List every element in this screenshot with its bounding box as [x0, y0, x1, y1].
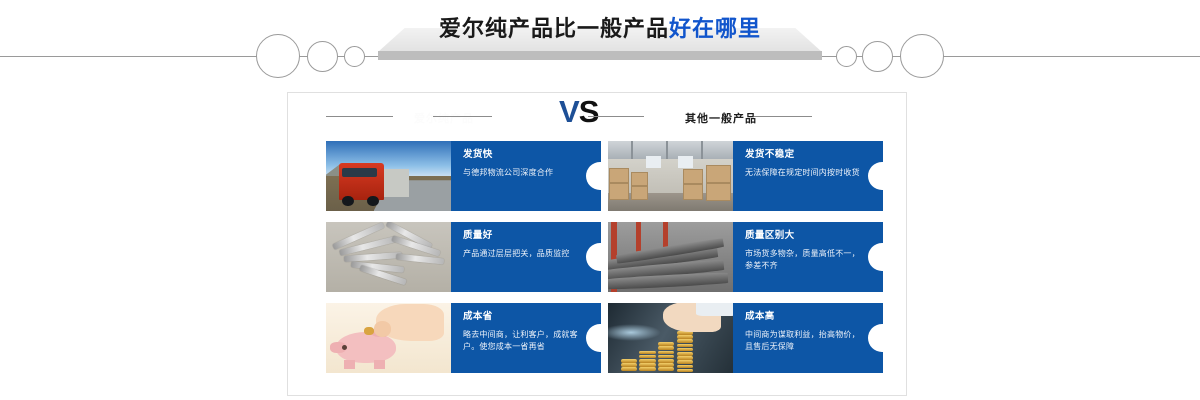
feature-card-title: 质量好	[463, 230, 579, 242]
our-products-column: 发货快 与德邦物流公司深度合作	[326, 141, 601, 384]
feature-card-pane: 质量好 产品通过层层把关，品质监控	[451, 222, 601, 292]
page-title-primary: 爱尔纯产品比一般产品	[439, 16, 669, 41]
feature-card[interactable]: 质量好 产品通过层层把关，品质监控	[326, 222, 601, 292]
right-column-label: 其他一般产品	[685, 110, 757, 126]
notch-circle-icon	[868, 162, 883, 190]
feature-card-title: 成本省	[463, 311, 579, 323]
feature-card-desc: 略去中间商，让利客户，成就客户。使您成本一省再省	[463, 329, 579, 353]
decorative-circle-icon	[862, 41, 893, 72]
drawback-card-pane: 发货不稳定 无法保障在规定时间内按时收货	[733, 141, 883, 211]
feature-card-pane: 发货快 与德邦物流公司深度合作	[451, 141, 601, 211]
versus-bar: 爱尔纯产品 VS 其他一般产品	[288, 93, 908, 141]
decorative-circle-icon	[307, 41, 338, 72]
versus-divider-line	[754, 116, 812, 117]
drawback-card-title: 发货不稳定	[745, 149, 861, 161]
promo-comparison-banner: 爱尔纯产品比一般产品好在哪里 爱尔纯产品 VS 其他一般产品	[0, 0, 1200, 400]
decorative-circle-icon	[344, 46, 365, 67]
comparison-panel: 爱尔纯产品 VS 其他一般产品	[287, 92, 907, 396]
versus-letter-s: S	[579, 94, 599, 129]
versus-icon: VS	[559, 95, 598, 129]
feature-card-pane: 成本省 略去中间商，让利客户，成就客户。使您成本一省再省	[451, 303, 601, 373]
steel-pipes-photo	[608, 222, 733, 292]
notch-circle-icon	[586, 243, 601, 271]
feature-card[interactable]: 发货快 与德邦物流公司深度合作	[326, 141, 601, 211]
drawback-card-desc: 市场货多物杂，质量高低不一，参差不齐	[745, 248, 861, 272]
truck-photo	[326, 141, 451, 211]
warehouse-photo	[608, 141, 733, 211]
feature-card-title: 发货快	[463, 149, 579, 161]
notch-circle-icon	[868, 324, 883, 352]
feature-card-desc: 与德邦物流公司深度合作	[463, 167, 579, 179]
gold-coins-photo	[608, 303, 733, 373]
versus-letter-v: V	[559, 94, 579, 129]
banner-header: 爱尔纯产品比一般产品好在哪里	[0, 0, 1200, 82]
other-products-column: 发货不稳定 无法保障在规定时间内按时收货	[608, 141, 883, 384]
feature-card-desc: 产品通过层层把关，品质监控	[463, 248, 579, 260]
drawback-card[interactable]: 发货不稳定 无法保障在规定时间内按时收货	[608, 141, 883, 211]
drawback-card-pane: 质量区别大 市场货多物杂，质量高低不一，参差不齐	[733, 222, 883, 292]
page-title-accent: 好在哪里	[669, 16, 761, 41]
feature-card[interactable]: 成本省 略去中间商，让利客户，成就客户。使您成本一省再省	[326, 303, 601, 373]
versus-divider-line	[326, 116, 393, 117]
drawback-card-desc: 无法保障在规定时间内按时收货	[745, 167, 861, 179]
drawback-card-pane: 成本高 中间商为谋取利益，抬高物价，且售后无保障	[733, 303, 883, 373]
left-column-label: 爱尔纯产品	[414, 110, 474, 126]
drawback-card-title: 成本高	[745, 311, 861, 323]
versus-divider-line	[588, 116, 644, 117]
metal-tubes-photo	[326, 222, 451, 292]
drawback-card[interactable]: 质量区别大 市场货多物杂，质量高低不一，参差不齐	[608, 222, 883, 292]
drawback-card[interactable]: 成本高 中间商为谋取利益，抬高物价，且售后无保障	[608, 303, 883, 373]
notch-circle-icon	[586, 324, 601, 352]
versus-divider-line	[433, 116, 492, 117]
notch-circle-icon	[586, 162, 601, 190]
piggy-bank-photo	[326, 303, 451, 373]
notch-circle-icon	[868, 243, 883, 271]
drawback-card-desc: 中间商为谋取利益，抬高物价，且售后无保障	[745, 329, 861, 353]
decorative-circle-icon	[836, 46, 857, 67]
page-title: 爱尔纯产品比一般产品好在哪里	[0, 11, 1200, 43]
drawback-card-title: 质量区别大	[745, 230, 861, 242]
